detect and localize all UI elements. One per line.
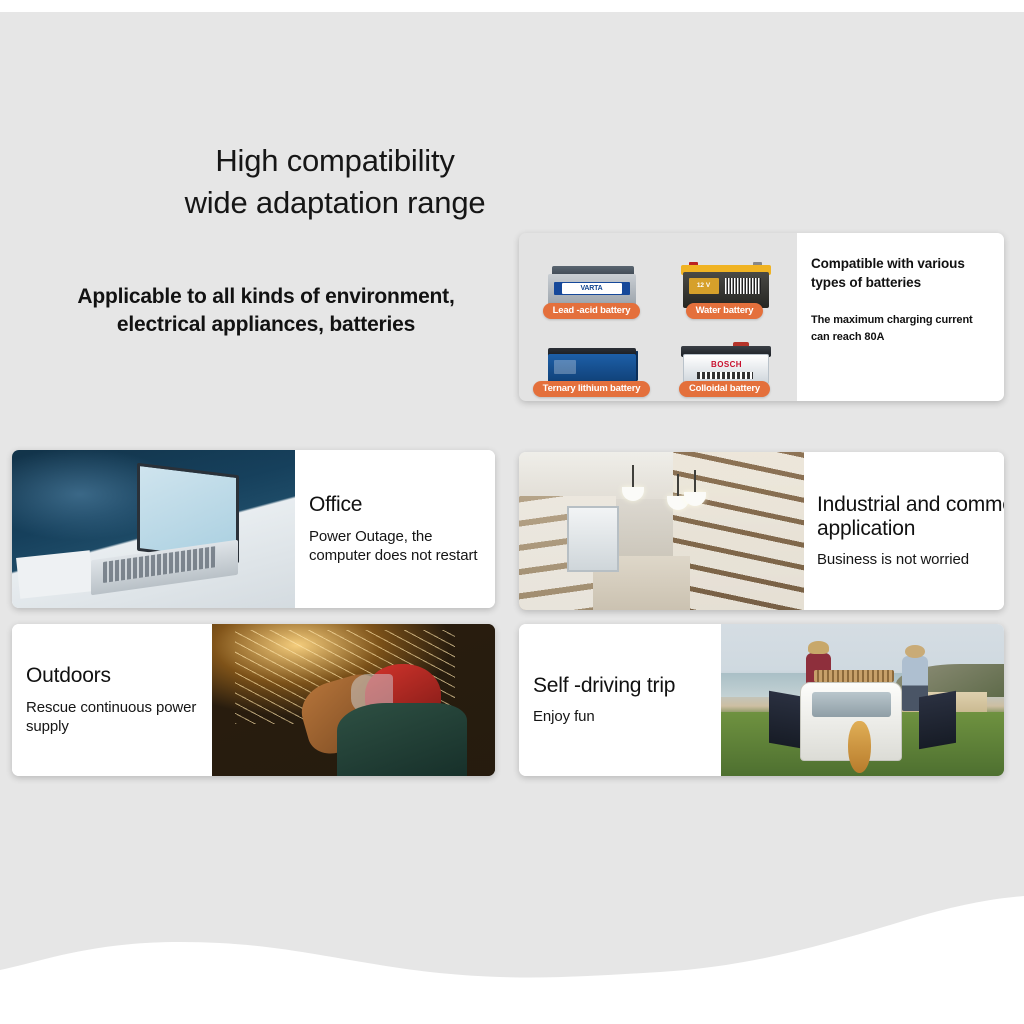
office-card-text-panel: Office Power Outage, the computer does n…: [295, 450, 495, 608]
feature-card-industrial[interactable]: Industrial and commercial application Bu…: [519, 452, 1004, 610]
battery-brand-label: BOSCH: [699, 360, 755, 370]
page-subtitle-line2: electrical appliances, batteries: [46, 311, 486, 339]
industrial-card-text-panel: Industrial and commercial application Bu…: [804, 452, 1004, 610]
office-laptop-photo: [12, 450, 295, 608]
office-card-title: Office: [309, 493, 495, 518]
selfdriving-card-text-panel: Self -driving trip Enjoy fun: [519, 624, 721, 776]
industrial-card-title: Industrial and commercial application: [817, 493, 1004, 541]
battery-type-label: Ternary lithium battery: [533, 381, 651, 398]
feature-card-office[interactable]: Office Power Outage, the computer does n…: [12, 450, 495, 608]
outdoors-card-title: Outdoors: [26, 664, 212, 689]
outdoors-card-text-panel: Outdoors Rescue continuous power supply: [12, 624, 212, 776]
battery-type-item: BOSCH Colloidal battery: [658, 319, 791, 397]
page-subtitle-line1: Applicable to all kinds of environment,: [77, 285, 454, 308]
road-trip-beach-photo: [721, 624, 1004, 776]
outdoors-card-subtitle: Rescue continuous power supply: [26, 698, 212, 736]
feature-card-selfdriving[interactable]: Self -driving trip Enjoy fun: [519, 624, 1004, 776]
battery-type-item: Ternary lithium battery: [525, 319, 658, 397]
page-title-line2: wide adaptation range: [100, 182, 570, 224]
welding-sparks-photo: [212, 624, 495, 776]
battery-card-note: The maximum charging current can reach 8…: [811, 312, 992, 346]
selfdriving-card-title: Self -driving trip: [533, 674, 721, 699]
selfdriving-card-subtitle: Enjoy fun: [533, 707, 721, 726]
industrial-card-subtitle: Business is not worried: [817, 550, 1004, 569]
battery-type-label: Lead -acid battery: [543, 303, 641, 320]
page-title-line1: High compatibility: [215, 143, 454, 178]
battery-brand-label: VARTA: [562, 283, 622, 294]
battery-voltage-label: 12 V: [689, 278, 719, 294]
battery-type-label: Colloidal battery: [679, 381, 770, 398]
battery-type-grid: VARTA Lead -acid battery 12 V Water batt…: [519, 233, 797, 401]
battery-card-headline: Compatible with various types of batteri…: [811, 255, 992, 292]
grocery-store-photo: [519, 452, 804, 610]
promo-page: High compatibility wide adaptation range…: [0, 0, 1024, 1024]
page-subtitle: Applicable to all kinds of environment, …: [46, 283, 486, 339]
battery-type-label: Water battery: [686, 303, 764, 320]
page-title: High compatibility wide adaptation range: [100, 140, 570, 223]
battery-type-item: 12 V Water battery: [658, 241, 791, 319]
battery-card-text-panel: Compatible with various types of batteri…: [797, 233, 1004, 401]
feature-card-outdoors[interactable]: Outdoors Rescue continuous power supply: [12, 624, 495, 776]
battery-compatibility-card: VARTA Lead -acid battery 12 V Water batt…: [519, 233, 1004, 401]
office-card-subtitle: Power Outage, the computer does not rest…: [309, 527, 495, 565]
battery-type-item: VARTA Lead -acid battery: [525, 241, 658, 319]
